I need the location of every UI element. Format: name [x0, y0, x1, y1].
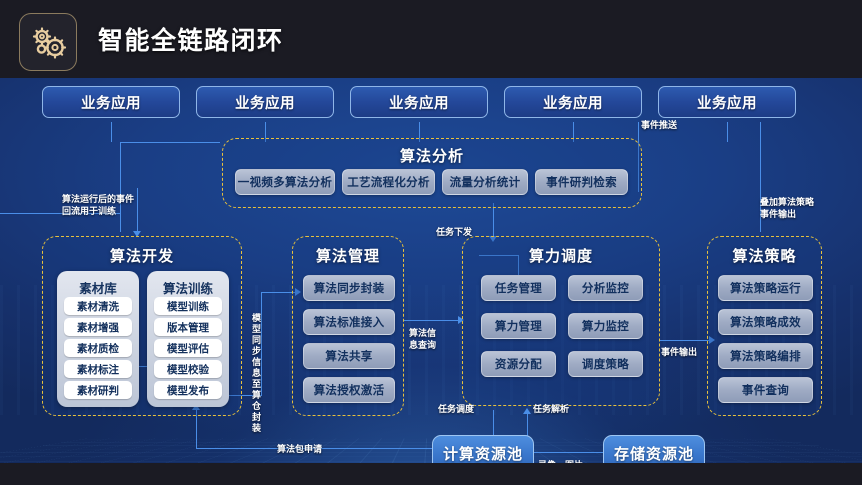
business-app-label: 业务应用 [389, 92, 449, 113]
management-item-1[interactable]: 算法同步封装 [303, 275, 395, 301]
analysis-item-label: 事件研判检索 [546, 174, 617, 190]
logo-container [19, 13, 77, 71]
material-item-label: 素材增强 [77, 320, 119, 335]
business-app-box-5[interactable]: 业务应用 [658, 86, 796, 118]
perspective-grid-decoration [0, 438, 862, 463]
management-item-label: 算法共享 [325, 348, 372, 364]
connector-line [660, 340, 712, 341]
analysis-item-label: 一视频多算法分析 [238, 174, 332, 190]
business-app-label: 业务应用 [543, 92, 603, 113]
compute-item-label: 算力管理 [495, 318, 542, 334]
material-item-5[interactable]: 素材研判 [64, 381, 132, 399]
algorithm-training-panel: 算法训练 模型训练 版本管理 模型评估 模型校验 模型发布 [147, 271, 229, 407]
training-item-label: 模型发布 [167, 383, 209, 398]
compute-resource-pool-label: 计算资源池 [443, 443, 523, 464]
strategy-item-label: 算法策略运行 [730, 280, 801, 296]
group-title-strategy: 算法策略 [708, 245, 821, 266]
analysis-item-2[interactable]: 工艺流程化分析 [342, 169, 435, 195]
compute-item-label: 算力监控 [582, 318, 629, 334]
compute-item-right-3[interactable]: 调度策略 [568, 351, 643, 377]
training-item-2[interactable]: 版本管理 [154, 318, 222, 336]
compute-item-left-3[interactable]: 资源分配 [481, 351, 556, 377]
business-app-label: 业务应用 [81, 92, 141, 113]
compute-resource-pool[interactable]: 计算资源池 [432, 435, 534, 463]
training-item-1[interactable]: 模型训练 [154, 297, 222, 315]
label-event-output: 事件输出 [661, 346, 705, 358]
label-overlay-strategy: 叠加算法策略 事件输出 [760, 196, 832, 220]
storage-resource-pool[interactable]: 存储资源池 [603, 435, 705, 463]
label-task-schedule: 任务调度 [438, 403, 474, 415]
connector-line [120, 142, 121, 232]
header-bar: 智能全链路闭环 [0, 0, 862, 78]
group-title-development: 算法开发 [43, 245, 241, 266]
training-item-label: 模型训练 [167, 299, 209, 314]
material-item-2[interactable]: 素材增强 [64, 318, 132, 336]
strategy-item-4[interactable]: 事件查询 [718, 377, 813, 403]
strategy-item-label: 事件查询 [742, 382, 789, 398]
compute-item-label: 资源分配 [495, 356, 542, 372]
label-event-reflow: 算法运行后的事件 回流用于训练 [62, 193, 142, 217]
compute-item-left-1[interactable]: 任务管理 [481, 275, 556, 301]
management-item-2[interactable]: 算法标准接入 [303, 309, 395, 335]
label-task-dispatch: 任务下发 [436, 226, 472, 238]
algorithm-management-group: 算法管理 算法同步封装 算法标准接入 算法共享 算法授权激活 [292, 236, 404, 416]
strategy-item-3[interactable]: 算法策略编排 [718, 343, 813, 369]
connector-line [493, 203, 494, 238]
storage-resource-pool-label: 存储资源池 [614, 443, 694, 464]
analysis-item-1[interactable]: 一视频多算法分析 [235, 169, 335, 195]
connector-line [404, 320, 461, 321]
diagram-stage: 业务应用 业务应用 业务应用 业务应用 业务应用 算法分析 一视频多算法分析 工… [0, 78, 862, 463]
material-item-label: 素材清洗 [77, 299, 119, 314]
group-title-compute: 算力调度 [463, 245, 659, 266]
connector-line [120, 142, 220, 143]
analysis-item-4[interactable]: 事件研判检索 [535, 169, 628, 195]
management-item-label: 算法标准接入 [314, 314, 385, 330]
analysis-item-label: 工艺流程化分析 [347, 174, 430, 190]
business-app-label: 业务应用 [697, 92, 757, 113]
group-title-analysis: 算法分析 [223, 145, 641, 166]
strategy-item-label: 算法策略编排 [730, 348, 801, 364]
gears-icon [29, 23, 69, 63]
material-item-label: 素材质检 [77, 341, 119, 356]
connector-line [111, 122, 112, 142]
footer-band [0, 463, 862, 485]
panel-title-material-library: 素材库 [57, 278, 139, 297]
compute-item-label: 调度策略 [582, 356, 629, 372]
compute-item-label: 任务管理 [495, 280, 542, 296]
business-app-box-1[interactable]: 业务应用 [42, 86, 180, 118]
business-app-box-4[interactable]: 业务应用 [504, 86, 642, 118]
label-task-parse: 任务解析 [533, 403, 569, 415]
algorithm-analysis-group: 算法分析 一视频多算法分析 工艺流程化分析 流量分析统计 事件研判检索 [222, 138, 642, 208]
management-item-label: 算法授权激活 [314, 382, 385, 398]
training-item-5[interactable]: 模型发布 [154, 381, 222, 399]
business-app-box-2[interactable]: 业务应用 [196, 86, 334, 118]
label-model-sync: 模型同步信息至算仓封装 [252, 313, 265, 434]
label-event-push: 事件推送 [641, 119, 677, 131]
algorithm-strategy-group: 算法策略 算法策略运行 算法策略成效 算法策略编排 事件查询 [707, 236, 822, 416]
strategy-item-2[interactable]: 算法策略成效 [718, 309, 813, 335]
panel-title-algorithm-training: 算法训练 [147, 278, 229, 297]
page-title: 智能全链路闭环 [98, 21, 284, 57]
strategy-item-label: 算法策略成效 [730, 314, 801, 330]
analysis-item-3[interactable]: 流量分析统计 [442, 169, 528, 195]
material-item-label: 素材研判 [77, 383, 119, 398]
training-item-label: 模型校验 [167, 362, 209, 377]
material-item-1[interactable]: 素材清洗 [64, 297, 132, 315]
management-item-4[interactable]: 算法授权激活 [303, 377, 395, 403]
group-title-management: 算法管理 [293, 245, 403, 266]
training-item-3[interactable]: 模型评估 [154, 339, 222, 357]
management-item-3[interactable]: 算法共享 [303, 343, 395, 369]
compute-item-left-2[interactable]: 算力管理 [481, 313, 556, 339]
material-item-3[interactable]: 素材质检 [64, 339, 132, 357]
material-library-panel: 素材库 素材清洗 素材增强 素材质检 素材标注 素材研判 [57, 271, 139, 407]
compute-item-label: 分析监控 [582, 280, 629, 296]
material-item-4[interactable]: 素材标注 [64, 360, 132, 378]
training-item-label: 模型评估 [167, 341, 209, 356]
label-algo-package-apply: 算法包申请 [277, 443, 322, 455]
management-item-label: 算法同步封装 [314, 280, 385, 296]
compute-item-right-2[interactable]: 算力监控 [568, 313, 643, 339]
training-item-4[interactable]: 模型校验 [154, 360, 222, 378]
business-app-label: 业务应用 [235, 92, 295, 113]
compute-scheduling-group: 算力调度 任务管理 算力管理 资源分配 分析监控 算力监控 调度策略 [462, 236, 660, 406]
label-algo-info-query: 算法信息查询 [409, 327, 443, 351]
strategy-item-1[interactable]: 算法策略运行 [718, 275, 813, 301]
infographic-root: 智能全链路闭环 [0, 0, 862, 485]
algorithm-development-group: 算法开发 素材库 素材清洗 素材增强 素材质检 素材标注 素材研判 算法训练 模… [42, 236, 242, 416]
connector-line [530, 452, 607, 453]
arrow-up-icon [523, 408, 531, 414]
compute-item-right-1[interactable]: 分析监控 [568, 275, 643, 301]
training-item-label: 版本管理 [167, 320, 209, 335]
business-app-box-3[interactable]: 业务应用 [350, 86, 488, 118]
analysis-item-label: 流量分析统计 [450, 174, 521, 190]
connector-line [727, 122, 728, 142]
material-item-label: 素材标注 [77, 362, 119, 377]
